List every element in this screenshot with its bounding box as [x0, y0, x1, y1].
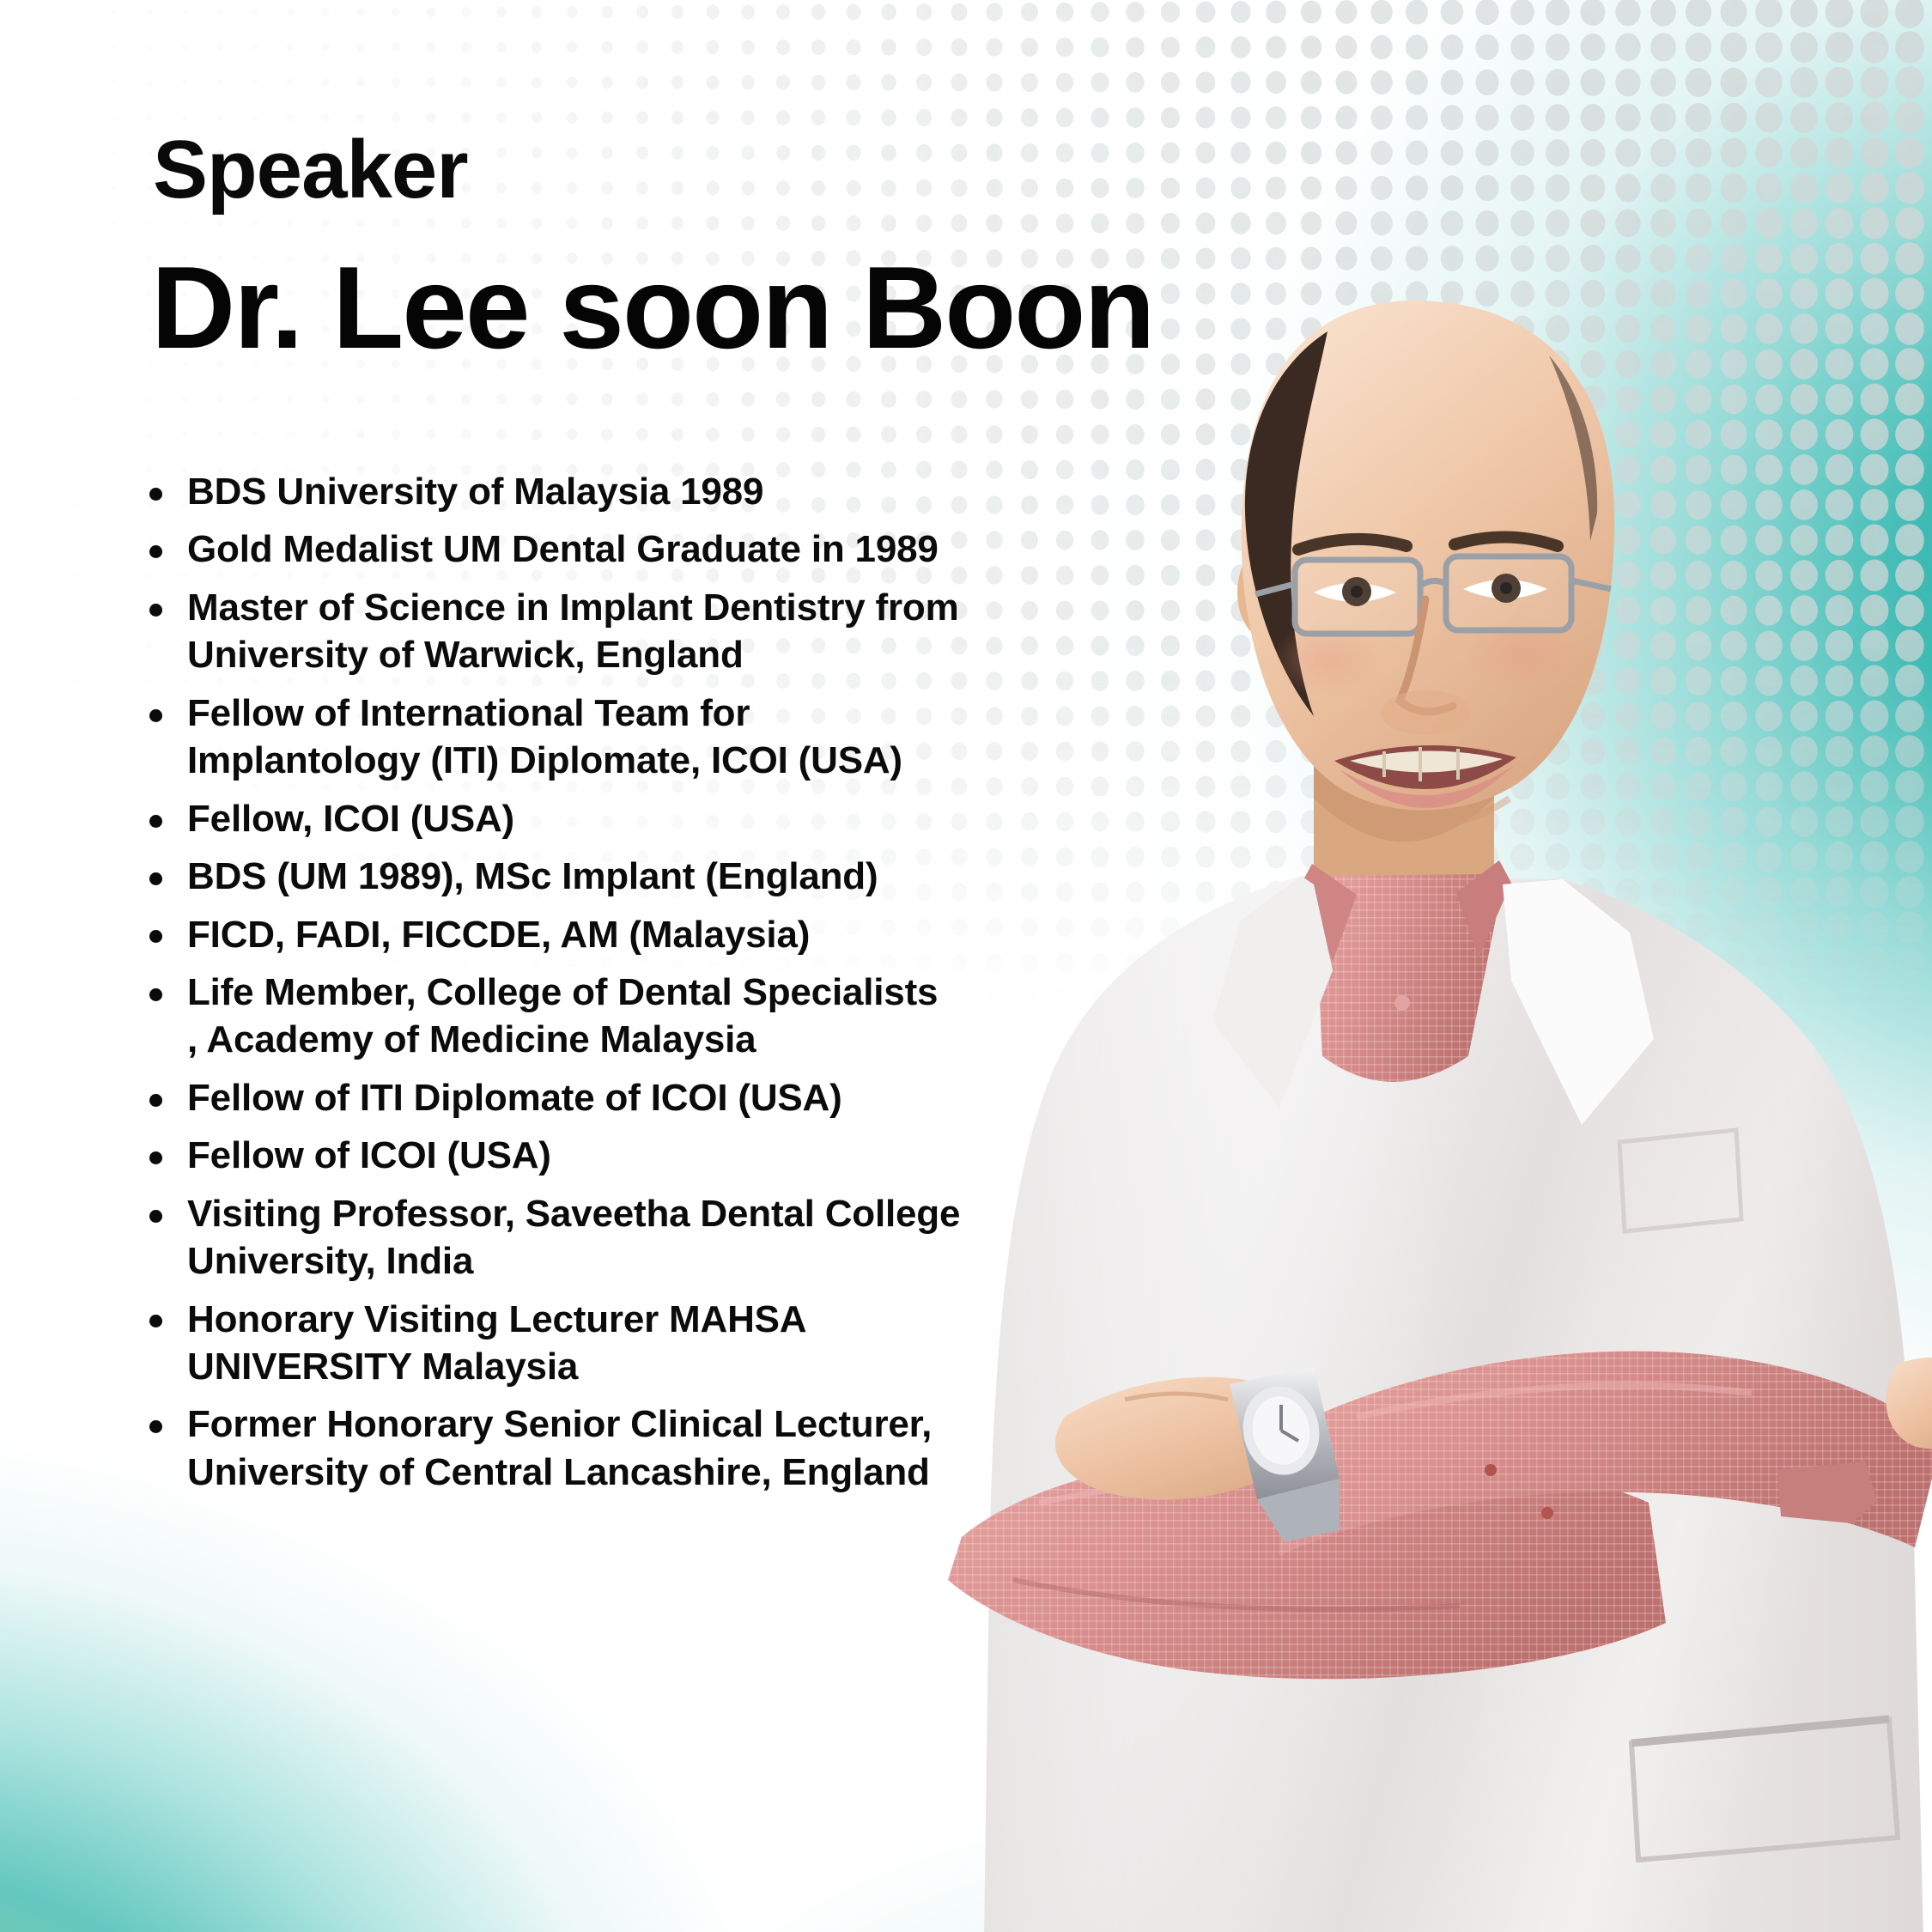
credential-item: Life Member, College of Dental Specialis…: [137, 969, 1073, 1064]
head: [1237, 301, 1614, 826]
eyebrow-label: Speaker: [153, 129, 468, 211]
credential-line-2: UNIVERSITY Malaysia: [187, 1343, 1073, 1390]
bullet-icon: [149, 988, 162, 1001]
credential-line-1: FICD, FADI, FICCDE, AM (Malaysia): [187, 914, 810, 956]
credential-item: Fellow of ITI Diplomate of ICOI (USA): [137, 1074, 1073, 1121]
bullet-icon: [149, 1094, 162, 1107]
credential-item: Fellow of ICOI (USA): [137, 1132, 1073, 1179]
credential-line-2: University of Central Lancashire, Englan…: [187, 1449, 1073, 1496]
credential-item: BDS (UM 1989), MSc Implant (England): [137, 853, 1073, 900]
credential-item: BDS University of Malaysia 1989: [137, 468, 1073, 515]
credential-line-1: Fellow of ITI Diplomate of ICOI (USA): [187, 1077, 842, 1119]
bullet-icon: [149, 872, 162, 885]
bullet-icon: [149, 930, 162, 943]
bullet-icon: [149, 1420, 162, 1433]
credential-item: Former Honorary Senior Clinical Lecturer…: [137, 1400, 1073, 1496]
credential-line-1: Honorary Visiting Lecturer MAHSA: [187, 1298, 806, 1340]
bullet-icon: [149, 545, 162, 558]
speaker-name: Dr. Lee soon Boon: [151, 249, 1153, 366]
bullet-icon: [149, 1210, 162, 1223]
credential-line-1: Fellow of International Team for: [187, 692, 750, 734]
credential-line-1: Life Member, College of Dental Specialis…: [187, 971, 938, 1013]
credential-line-2: University, India: [187, 1237, 1073, 1285]
credential-item: Gold Medalist UM Dental Graduate in 1989: [137, 526, 1073, 573]
credential-line-1: Gold Medalist UM Dental Graduate in 1989: [187, 528, 939, 570]
credential-line-1: Fellow of ICOI (USA): [187, 1134, 551, 1176]
credential-line-2: , Academy of Medicine Malaysia: [187, 1016, 1073, 1063]
credential-line-1: BDS (UM 1989), MSc Implant (England): [187, 855, 878, 897]
bullet-icon: [149, 1151, 162, 1164]
credential-line-1: Visiting Professor, Saveetha Dental Coll…: [187, 1193, 960, 1235]
credential-item: Honorary Visiting Lecturer MAHSAUNIVERSI…: [137, 1296, 1073, 1391]
credential-line-1: Former Honorary Senior Clinical Lecturer…: [187, 1403, 932, 1445]
bullet-icon: [149, 488, 162, 501]
bullet-icon: [149, 815, 162, 828]
credential-item: FICD, FADI, FICCDE, AM (Malaysia): [137, 911, 1073, 958]
credential-line-2: Implantology (ITI) Diplomate, ICOI (USA): [187, 737, 1073, 784]
credential-item: Master of Science in Implant Dentistry f…: [137, 584, 1073, 679]
credential-item: Fellow, ICOI (USA): [137, 795, 1073, 842]
speaker-poster: Speaker Dr. Lee soon Boon BDS University…: [0, 0, 1932, 1932]
credentials-list: BDS University of Malaysia 1989Gold Meda…: [137, 468, 1073, 1506]
credential-line-1: Fellow, ICOI (USA): [187, 798, 514, 840]
credential-item: Fellow of International Team forImplanto…: [137, 690, 1073, 785]
credential-line-1: BDS University of Malaysia 1989: [187, 471, 763, 513]
bullet-icon: [149, 709, 162, 722]
credential-item: Visiting Professor, Saveetha Dental Coll…: [137, 1190, 1073, 1285]
bullet-icon: [149, 604, 162, 617]
bullet-icon: [149, 1315, 162, 1327]
credential-line-2: University of Warwick, England: [187, 631, 1073, 678]
credential-line-1: Master of Science in Implant Dentistry f…: [187, 586, 959, 629]
